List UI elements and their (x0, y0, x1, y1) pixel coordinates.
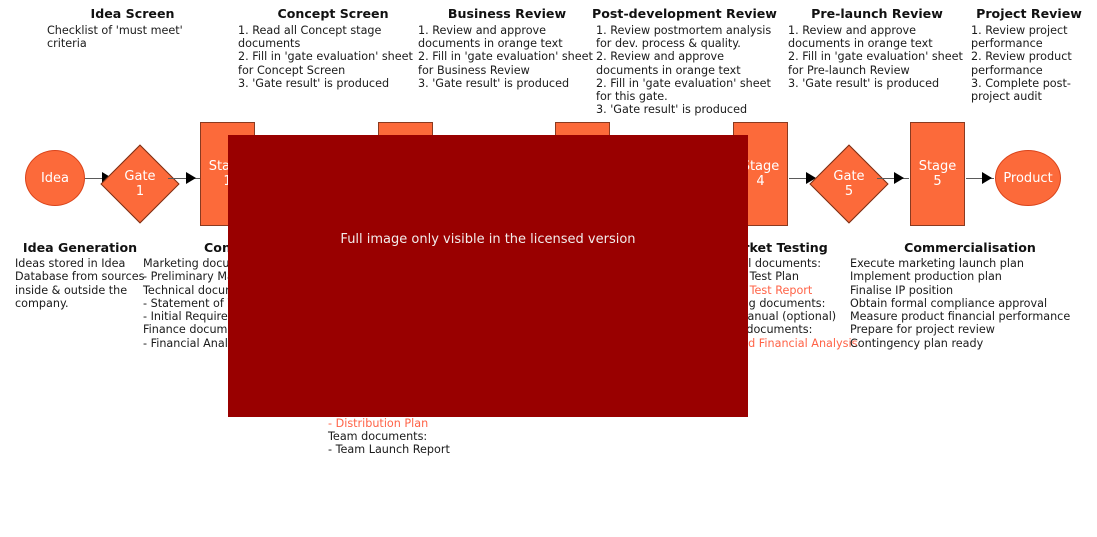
arrowhead-icon (186, 172, 196, 184)
flow-node-product[interactable]: Product (995, 150, 1061, 206)
gate-step: documents (238, 37, 428, 50)
gate-column-concept-screen: Concept Screen 1. Read all Concept stage… (238, 6, 428, 90)
gate-title: Business Review (418, 6, 596, 21)
stage-line: Contingency plan ready (850, 337, 1090, 350)
gate-step: 3. 'Gate result' is produced (596, 103, 777, 116)
gate-steps: 1. Review project performance 2. Review … (968, 24, 1090, 103)
gate-column-pre-launch-review: Pre-launch Review 1. Review and approve … (784, 6, 970, 90)
stage-line: Execute marketing launch plan (850, 257, 1090, 270)
gate-step: for Pre-launch Review (788, 64, 970, 77)
gate-steps: Checklist of 'must meet' criteria (30, 24, 235, 50)
flow-node-label: Idea (41, 171, 69, 186)
gate-step: project audit (971, 90, 1090, 103)
stage-label-line1: Stage (919, 159, 957, 174)
stage-line: Ideas stored in Idea (15, 257, 150, 270)
licence-watermark-overlay: Full image only visible in the licensed … (228, 135, 748, 417)
arrowhead-icon (894, 172, 904, 184)
flow-node-gate-5[interactable]: Gate 5 (821, 156, 877, 212)
gate-step: 3. 'Gate result' is produced (238, 77, 428, 90)
gate-title: Concept Screen (238, 6, 428, 21)
stage-line: Obtain formal compliance approval (850, 297, 1090, 310)
gate-step: 2. Review and approve (596, 50, 777, 63)
gate-step: 3. Complete post- (971, 77, 1090, 90)
gate-steps: 1. Review postmortem analysis for dev. p… (592, 24, 777, 116)
gate-column-post-development-review: Post-development Review 1. Review postmo… (592, 6, 777, 116)
stage-lines: Ideas stored in Idea Database from sourc… (10, 257, 150, 310)
flow-node-stage-5[interactable]: Stage 5 (910, 122, 965, 226)
licence-watermark-text: Full image only visible in the licensed … (228, 232, 748, 247)
gate-column-project-review: Project Review 1. Review project perform… (968, 6, 1090, 103)
gate-title: Idea Screen (30, 6, 235, 21)
stage-lines: Execute marketing launch plan Implement … (850, 257, 1090, 350)
gate-steps: 1. Read all Concept stage documents 2. F… (238, 24, 428, 90)
flow-node-gate-1[interactable]: Gate 1 (112, 156, 168, 212)
gate-step: 2. Fill in 'gate evaluation' sheet (418, 50, 596, 63)
gate-step: criteria (47, 37, 235, 50)
gate-title: Post-development Review (592, 6, 777, 21)
gate-title: Pre-launch Review (784, 6, 970, 21)
stage-column-commercialisation: Commercialisation Execute marketing laun… (850, 240, 1090, 350)
gate-step: for this gate. (596, 90, 777, 103)
gate-label-line2: 1 (124, 184, 155, 199)
flow-node-label: Gate 5 (821, 156, 877, 212)
gate-step: Checklist of 'must meet' (47, 24, 235, 37)
gate-label-line2: 5 (833, 184, 864, 199)
gate-step: 2. Fill in 'gate evaluation' sheet (788, 50, 970, 63)
gate-step: documents in orange text (596, 64, 777, 77)
stage-line: Measure product financial performance (850, 310, 1090, 323)
gate-step: performance (971, 37, 1090, 50)
gate-step: 3. 'Gate result' is produced (788, 77, 970, 90)
stage-title: Idea Generation (10, 240, 150, 255)
gate-step: 1. Review and approve (418, 24, 596, 37)
arrowhead-icon (982, 172, 992, 184)
stage-column-idea-generation: Idea Generation Ideas stored in Idea Dat… (10, 240, 150, 310)
stage-line: company. (15, 297, 150, 310)
flow-node-label: Gate 1 (112, 156, 168, 212)
stage-line: Implement production plan (850, 270, 1090, 283)
stage-label-line2: 5 (919, 174, 957, 189)
gate-step: documents in orange text (418, 37, 596, 50)
stage-line: - Distribution Plan (328, 417, 513, 430)
gate-step: performance (971, 64, 1090, 77)
gate-step: 2. Fill in 'gate evaluation' sheet (596, 77, 777, 90)
gate-step: for Business Review (418, 64, 596, 77)
stage-line: Database from sources (15, 270, 150, 283)
gate-step: 2. Fill in 'gate evaluation' sheet (238, 50, 428, 63)
gate-step: documents in orange text (788, 37, 970, 50)
gate-step: 3. 'Gate result' is produced (418, 77, 596, 90)
gate-step: 1. Review project (971, 24, 1090, 37)
gate-column-business-review: Business Review 1. Review and approve do… (418, 6, 596, 90)
stage-line: inside & outside the (15, 284, 150, 297)
stage-line: Prepare for project review (850, 323, 1090, 336)
gate-label-line1: Gate (833, 169, 864, 184)
gate-step: 2. Review product (971, 50, 1090, 63)
flow-node-label: Product (1003, 171, 1052, 186)
gate-step: 1. Review postmortem analysis (596, 24, 777, 37)
flow-node-idea[interactable]: Idea (25, 150, 85, 206)
diagram-canvas: Idea Screen Checklist of 'must meet' cri… (0, 0, 1097, 537)
gate-step: 1. Review and approve (788, 24, 970, 37)
gate-steps: 1. Review and approve documents in orang… (418, 24, 596, 90)
stage-line: Finalise IP position (850, 284, 1090, 297)
stage-line: - Team Launch Report (328, 443, 513, 456)
gate-step: 1. Read all Concept stage (238, 24, 428, 37)
gate-step: for dev. process & quality. (596, 37, 777, 50)
stage-title: Commercialisation (850, 240, 1090, 255)
gate-step: for Concept Screen (238, 64, 428, 77)
stage-line: Team documents: (328, 430, 513, 443)
gate-steps: 1. Review and approve documents in orang… (784, 24, 970, 90)
gate-label-line1: Gate (124, 169, 155, 184)
connector-gate5-stage5 (877, 178, 909, 179)
gate-column-idea-screen: Idea Screen Checklist of 'must meet' cri… (30, 6, 235, 50)
gate-title: Project Review (968, 6, 1090, 21)
